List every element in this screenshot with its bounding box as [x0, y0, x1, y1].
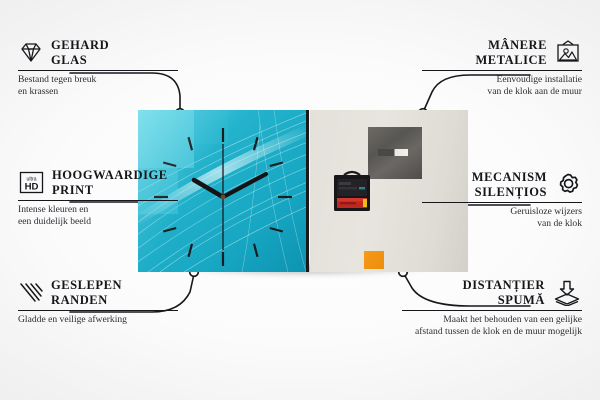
feature-body: Intense kleuren en een duidelijk beeld [18, 204, 178, 228]
tick-1 [254, 137, 258, 150]
battery-terminal [363, 199, 367, 207]
feature-rule [402, 310, 582, 311]
metal-hanger-plate [368, 127, 422, 179]
feature-rule [422, 70, 582, 71]
feature-rule [18, 200, 178, 201]
spacer-arrow-icon [552, 280, 582, 306]
feature-heading: ultra HD HOOGWAARDIGE PRINT [18, 168, 178, 197]
beveled-edges-icon [18, 281, 44, 305]
tick-7 [189, 244, 193, 257]
tick-10 [163, 163, 176, 167]
foam-spacer [364, 251, 384, 269]
minute-hand [223, 174, 266, 197]
feature-heading: MÂNERE METALICE [422, 38, 582, 67]
feature-manere-metalice: MÂNERE METALICE Eenvoudige installatie v… [422, 38, 582, 98]
feature-hoogwaardige-print: ultra HD HOOGWAARDIGE PRINT Intense kleu… [18, 168, 178, 228]
feature-body: Bestand tegen breuk en krassen [18, 74, 178, 98]
diamond-icon [18, 41, 44, 65]
feature-rule [422, 202, 582, 203]
feature-distantier-spuma: DISTANȚIER SPUMĂ Maakt het behouden van … [402, 278, 582, 338]
feature-mecanism-silentios: MECANISM SILENȚIOS Geruisloze wijzers va… [422, 170, 582, 230]
clock-mechanism [332, 169, 372, 213]
tick-4 [270, 228, 283, 232]
tick-11 [189, 137, 193, 150]
feature-body: Eenvoudige installatie van de klok aan d… [422, 74, 582, 98]
feature-rule [18, 70, 178, 71]
feature-title: MECANISM SILENȚIOS [472, 170, 547, 199]
feature-heading: MECANISM SILENȚIOS [422, 170, 582, 199]
tick-5 [254, 244, 258, 257]
feature-geslepen-randen: GESLEPEN RANDEN Gladde en veilige afwerk… [18, 278, 178, 326]
hanger-slot [378, 149, 408, 156]
hour-hand [194, 180, 223, 197]
feature-gehard-glas: GEHARD GLAS Bestand tegen breuk en krass… [18, 38, 178, 98]
feature-title: DISTANȚIER SPUMĂ [463, 278, 545, 307]
feature-heading: GESLEPEN RANDEN [18, 278, 178, 307]
ultra-hd-icon: ultra HD [18, 170, 45, 195]
infographic-canvas: GEHARD GLAS Bestand tegen breuk en krass… [0, 0, 600, 400]
picture-frame-icon [554, 40, 582, 65]
feature-title: GEHARD GLAS [51, 38, 109, 67]
feature-heading: DISTANȚIER SPUMĂ [402, 278, 582, 307]
feature-title: GESLEPEN RANDEN [51, 278, 122, 307]
product-exploded-view [136, 109, 470, 274]
gear-icon [554, 172, 582, 198]
feature-body: Gladde en veilige afwerking [18, 314, 178, 326]
mechanism-shaft [344, 172, 360, 175]
feature-rule [18, 310, 178, 311]
feature-title: HOOGWAARDIGE PRINT [52, 168, 168, 197]
feature-heading: GEHARD GLAS [18, 38, 178, 67]
feature-body: Maakt het behouden van een gelijke afsta… [402, 314, 582, 338]
svg-text:HD: HD [25, 182, 39, 193]
panel-dark-edge [306, 110, 309, 272]
tick-8 [163, 228, 176, 232]
feature-body: Geruisloze wijzers van de klok [422, 206, 582, 230]
feature-title: MÂNERE METALICE [475, 38, 547, 67]
tick-2 [270, 163, 283, 167]
clock-center-cap [221, 195, 226, 200]
